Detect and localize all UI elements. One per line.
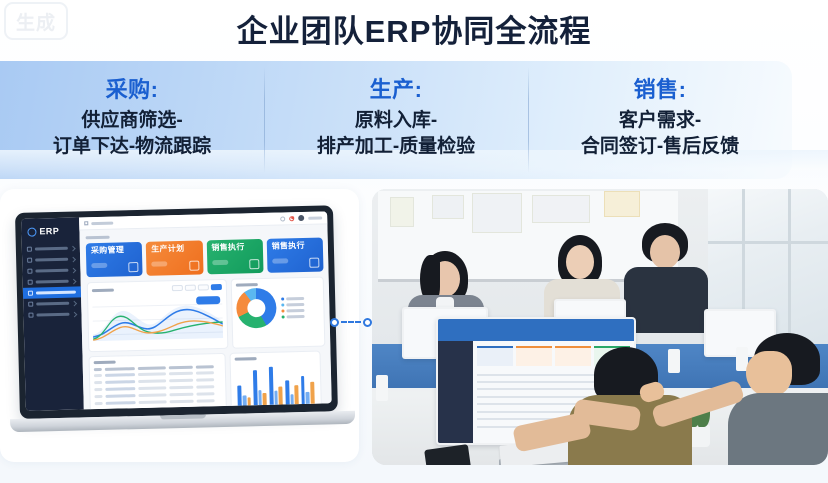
legend-item-4: [282, 314, 305, 318]
donut-chart: [236, 288, 277, 329]
factory-icon: [189, 261, 199, 271]
range-week[interactable]: [185, 285, 196, 291]
module-card-production[interactable]: 生产计划: [146, 240, 203, 275]
module-card-sales-2[interactable]: 销售执行: [266, 237, 323, 272]
process-line1-purchasing: 供应商筛选-: [81, 108, 182, 134]
person-man-pointing: [724, 339, 828, 465]
table-row[interactable]: [95, 399, 222, 405]
legend-item-1: [281, 296, 304, 300]
bar-group: [300, 363, 314, 407]
connector-dot-left: [330, 318, 339, 327]
erp-logo-label: ERP: [39, 226, 59, 236]
sticky-note: [432, 195, 464, 219]
breadcrumb: [84, 221, 113, 226]
person-man-back: [630, 223, 700, 339]
table-panel-title: [94, 361, 116, 365]
range-day[interactable]: [172, 285, 183, 291]
bar-group: [253, 364, 267, 408]
person-foreground-seated: [568, 385, 688, 465]
notification-icon[interactable]: [289, 216, 294, 221]
window-mullion: [708, 241, 828, 244]
page-title: 企业团队ERP协同全流程: [0, 6, 828, 51]
donut-panel: [231, 276, 325, 348]
whiteboard-diagram: [472, 193, 522, 233]
module-card-label: 销售执行: [211, 243, 258, 252]
page-root: 生成 企业团队ERP协同全流程 采购: 供应商筛选- 订单下达-物流跟踪 生产:…: [0, 0, 828, 483]
bar-chart: [235, 363, 316, 410]
refresh-icon[interactable]: [280, 216, 285, 221]
laptop-illustration: ERP: [5, 205, 356, 462]
whiteboard-notes: [532, 195, 590, 223]
module-card-row: 采购管理 生产计划 销售执行: [86, 237, 324, 277]
chart-icon: [309, 258, 319, 268]
window-mullion: [788, 189, 791, 349]
bar-group: [285, 363, 299, 407]
module-card-label: 销售执行: [272, 242, 319, 251]
polo-shirt: [624, 267, 708, 333]
invoice-icon: [249, 259, 259, 269]
process-line1-production: 原料入库-: [355, 108, 437, 134]
sidebar-icon-7: [28, 313, 33, 318]
cart-icon: [128, 262, 138, 272]
sidebar-icon-3: [27, 269, 32, 274]
bar-panel-title: [235, 357, 257, 361]
chevron-right-icon: [72, 311, 78, 317]
legend-item-2: [281, 302, 304, 306]
trend-panel-title: [92, 288, 114, 292]
chevron-right-icon: [71, 278, 77, 284]
laptop-dashboard-card: ERP: [0, 189, 359, 462]
table-row[interactable]: [94, 371, 221, 377]
chevron-right-icon: [71, 300, 77, 306]
flow-connector: [330, 315, 372, 329]
donut-legend: [281, 296, 305, 318]
table-row[interactable]: [94, 385, 221, 391]
erp-sidebar: ERP: [21, 217, 84, 410]
module-card-label: 采购管理: [91, 246, 138, 255]
table-row[interactable]: [94, 392, 221, 398]
erp-window-sidebar: [438, 341, 473, 443]
erp-main: 采购管理 生产计划 销售执行: [79, 211, 332, 409]
sidebar-icon-1: [27, 247, 32, 252]
sidebar-icon-6: [28, 302, 33, 307]
process-column-production: 生产: 原料入库- 排产加工-质量检验: [264, 61, 528, 179]
office-photo-card: [372, 189, 828, 465]
erp-logo-icon: [27, 227, 36, 236]
module-card-label: 生产计划: [151, 245, 198, 254]
sticky-note: [604, 191, 640, 217]
laptop-lid: ERP: [15, 205, 338, 419]
process-line1-sales: 客户需求-: [619, 108, 701, 134]
process-heading-purchasing: 采购:: [106, 72, 159, 104]
desk-speaker: [668, 349, 680, 373]
lower-row: [89, 350, 328, 409]
face: [566, 245, 594, 279]
chevron-right-icon: [70, 245, 76, 251]
process-heading-sales: 销售:: [634, 72, 687, 104]
face: [746, 351, 792, 397]
bar-group: [237, 364, 251, 408]
sidebar-icon-5: [28, 291, 33, 296]
legend-item-3: [282, 308, 305, 312]
process-line2-purchasing: 订单下达-物流跟踪: [53, 134, 211, 160]
chart-row: [87, 276, 326, 352]
process-heading-production: 生产:: [370, 72, 423, 104]
erp-logo: ERP: [21, 222, 79, 243]
process-column-sales: 销售: 客户需求- 合同签订-售后反馈: [528, 61, 792, 179]
chevron-right-icon: [70, 256, 76, 262]
section-label: [86, 236, 110, 240]
shirt: [728, 393, 828, 465]
bar-group: [269, 364, 283, 408]
trend-line-panel: [87, 279, 229, 352]
chart-tooltip: [196, 296, 220, 305]
generation-watermark: 生成: [4, 2, 68, 40]
laptop-screen: ERP: [21, 211, 332, 410]
sidebar-icon-2: [27, 258, 32, 263]
sticky-note: [390, 197, 414, 227]
table-header-row: [94, 365, 221, 371]
order-table-panel: [89, 353, 228, 409]
range-year[interactable]: [211, 284, 222, 290]
erp-window-titlebar: [438, 319, 634, 341]
table-row[interactable]: [94, 378, 221, 384]
process-line2-production: 排产加工-质量检验: [317, 134, 475, 160]
module-card-sales-1[interactable]: 销售执行: [206, 239, 263, 274]
process-line2-sales: 合同签订-售后反馈: [581, 134, 739, 160]
bar-chart-panel: [230, 351, 322, 410]
desk-speaker: [376, 375, 388, 401]
module-card-purchasing[interactable]: 采购管理: [86, 242, 143, 277]
connector-dot-right: [363, 318, 372, 327]
sidebar-icon-4: [28, 280, 33, 285]
chevron-right-icon: [71, 267, 77, 273]
sidebar-item-7[interactable]: [23, 308, 81, 320]
process-column-purchasing: 采购: 供应商筛选- 订单下达-物流跟踪: [0, 61, 264, 179]
connector-dashed-line: [341, 321, 361, 323]
face: [650, 235, 680, 269]
office-photo: [372, 189, 828, 465]
home-icon: [84, 221, 88, 225]
range-month[interactable]: [198, 284, 209, 290]
topbar-actions: [280, 215, 322, 222]
process-columns: 采购: 供应商筛选- 订单下达-物流跟踪 生产: 原料入库- 排产加工-质量检验…: [0, 61, 792, 179]
erp-content: 采购管理 生产计划 销售执行: [79, 224, 331, 409]
avatar[interactable]: [298, 215, 304, 221]
